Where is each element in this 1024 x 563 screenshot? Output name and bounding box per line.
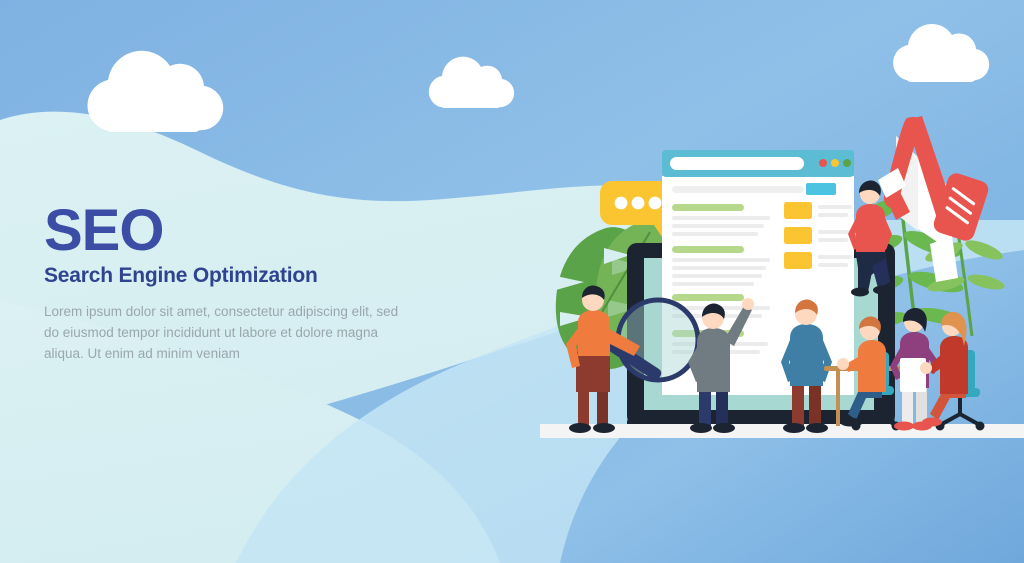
result-line [672, 266, 766, 270]
close-icon[interactable] [819, 159, 827, 167]
result-link[interactable] [672, 246, 744, 253]
result-line [672, 216, 770, 220]
result-line [672, 282, 754, 286]
results-summary-bar [672, 186, 804, 193]
window-dots[interactable] [819, 159, 851, 167]
result-link[interactable] [672, 204, 744, 211]
status-badge [806, 183, 836, 195]
page-subtitle: Search Engine Optimization [44, 264, 414, 288]
result-link[interactable] [672, 294, 744, 301]
result-line [672, 224, 764, 228]
page-title: SEO [44, 203, 414, 260]
person-seated-red [920, 312, 985, 430]
chat-bubble-dots [615, 197, 662, 210]
illustration-canvas: SEO Search Engine Optimization Lorem ips… [0, 0, 1024, 563]
paper-sheet [900, 358, 926, 392]
page-description: Lorem ipsum dolor sit amet, consectetur … [44, 302, 414, 365]
result-line [672, 274, 762, 278]
result-line [672, 258, 770, 262]
minimize-icon[interactable] [831, 159, 839, 167]
maximize-icon[interactable] [843, 159, 851, 167]
hero-copy: SEO Search Engine Optimization Lorem ips… [44, 203, 414, 365]
result-line [672, 232, 758, 236]
search-input[interactable] [670, 157, 804, 170]
